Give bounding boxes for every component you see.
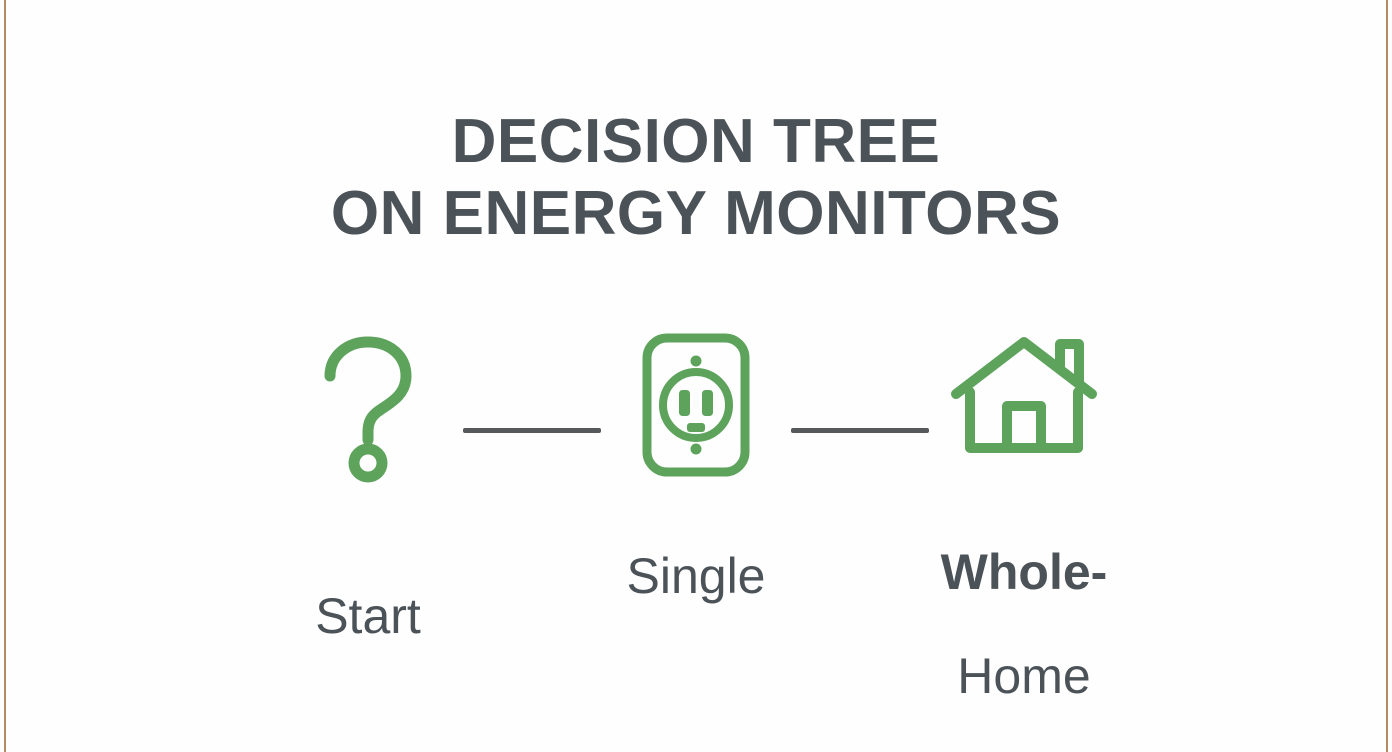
- flow-node-start-label-text: Start: [315, 590, 421, 642]
- house-icon: [948, 330, 1100, 480]
- page-title-line-2: ON ENERGY MONITORS: [0, 178, 1392, 250]
- question-mark-icon: [308, 330, 428, 480]
- flow-node-whole-home-label-line-2: Home: [941, 650, 1108, 702]
- connector-single-to-whole-home: [791, 428, 929, 433]
- power-outlet-icon: [637, 330, 755, 480]
- flow-node-whole-home[interactable]: Whole- Home: [929, 330, 1119, 752]
- flow-node-single-label-text: Single: [627, 550, 766, 602]
- connector-start-to-single: [463, 428, 601, 433]
- flow-node-whole-home-label-line-1: Whole-: [941, 546, 1108, 598]
- flow-node-start-label: Start: [315, 538, 421, 694]
- flow-node-whole-home-label: Whole- Home: [941, 494, 1108, 752]
- flow-node-start[interactable]: Start: [273, 330, 463, 694]
- page-title-line-1: DECISION TREE: [0, 106, 1392, 178]
- decision-flow: Start Single: [0, 330, 1392, 630]
- page-title: DECISION TREE ON ENERGY MONITORS: [0, 106, 1392, 250]
- flow-node-single[interactable]: Single: [601, 330, 791, 654]
- flow-node-single-label: Single: [627, 498, 766, 654]
- slide-canvas: DECISION TREE ON ENERGY MONITORS Start: [0, 0, 1392, 752]
